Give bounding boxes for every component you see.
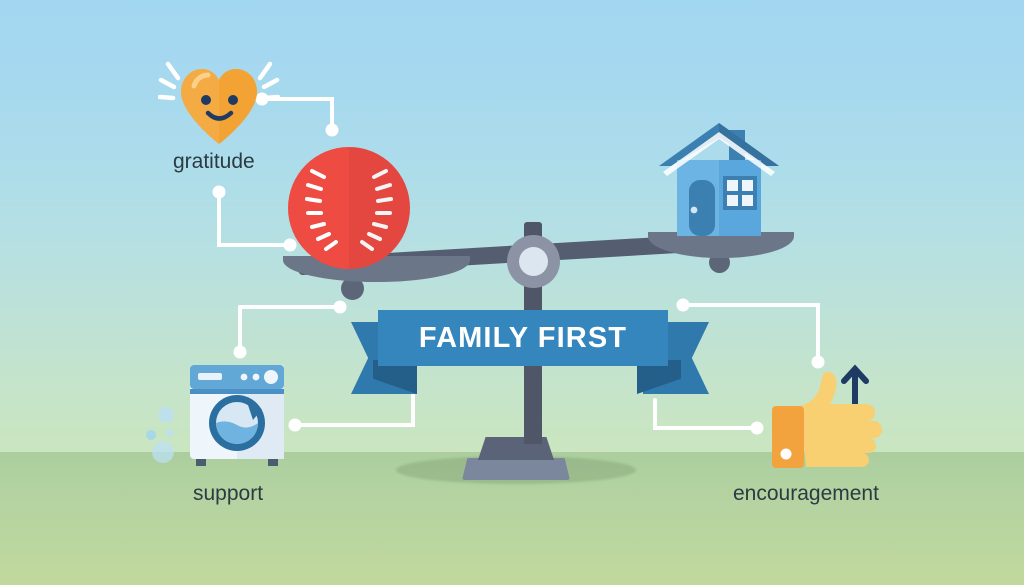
label-gratitude: gratitude — [173, 150, 255, 174]
thumbs-up-icon — [762, 360, 890, 472]
scale-base-upper — [478, 437, 554, 460]
baseball-icon — [288, 147, 410, 269]
family-first-banner: FAMILY FIRST — [378, 310, 668, 366]
smiling-heart-icon — [158, 52, 280, 147]
banner-label: FAMILY FIRST — [419, 322, 627, 355]
scale-pivot-core — [519, 247, 548, 276]
soap-bubbles-icon — [143, 404, 191, 466]
label-encouragement: encouragement — [733, 482, 879, 506]
illustration-canvas: FAMILY FIRST gratitude support encourage… — [0, 0, 1024, 585]
house-icon — [655, 118, 783, 236]
label-support: support — [193, 482, 263, 506]
scale-base-lower — [462, 458, 570, 480]
washing-machine-icon — [186, 363, 288, 467]
